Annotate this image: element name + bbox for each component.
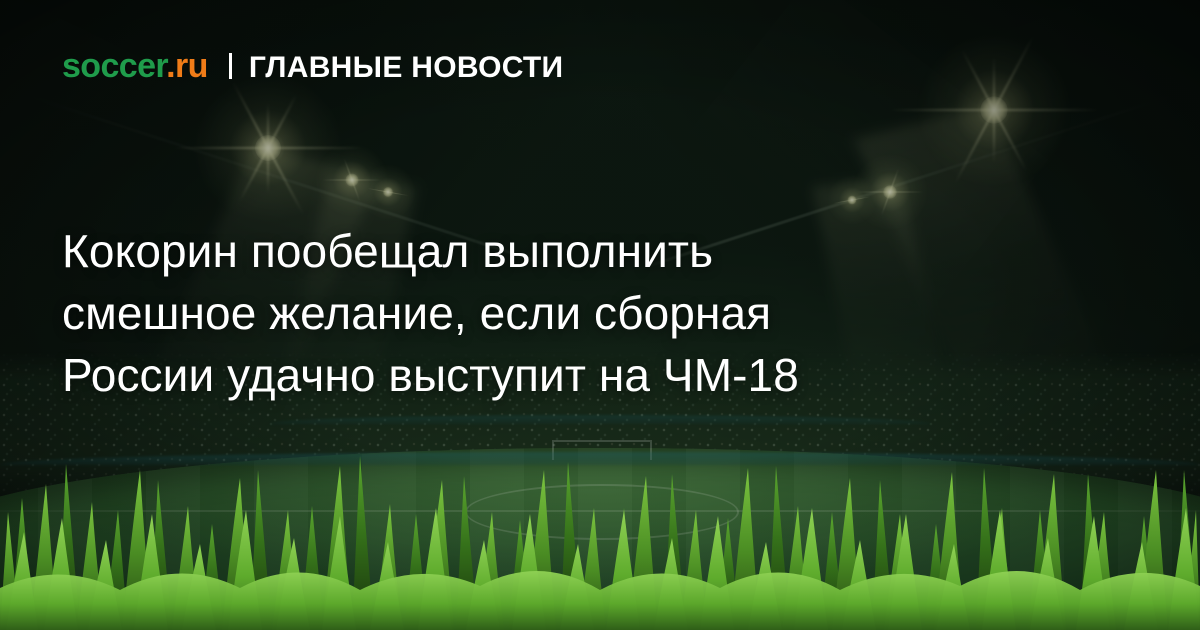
section-kicker: ГЛАВНЫЕ НОВОСТИ [249, 53, 564, 83]
headline-line: смешное желание, если сборная [62, 282, 1062, 344]
share-card: soccer.ru ГЛАВНЫЕ НОВОСТИ Кокорин пообещ… [0, 0, 1200, 630]
page-title: Кокорин пообещал выполнить смешное желан… [62, 220, 1062, 406]
logo-text-tld: ru [175, 47, 208, 85]
card-header: soccer.ru ГЛАВНЫЕ НОВОСТИ [62, 49, 563, 83]
logo-text-dot: . [166, 47, 175, 85]
headline-line: России удачно выступит на ЧМ-18 [62, 344, 1062, 406]
header-divider [229, 53, 232, 79]
headline-line: Кокорин пообещал выполнить [62, 220, 1062, 282]
logo-text-primary: soccer [62, 47, 166, 85]
site-logo[interactable]: soccer.ru [62, 49, 208, 83]
card-content: soccer.ru ГЛАВНЫЕ НОВОСТИ Кокорин пообещ… [0, 0, 1200, 630]
